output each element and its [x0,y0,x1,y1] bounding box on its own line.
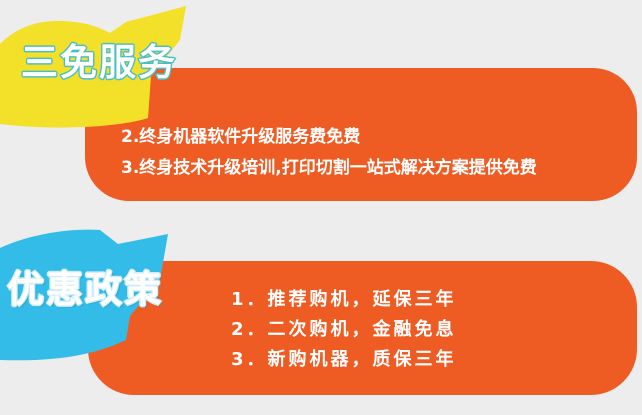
preferential-policy-title: 优惠政策 [7,268,163,312]
policy-line-3: 3．新购机器，质保三年 [231,345,457,375]
three-free-service-title: 三免服务 [21,41,177,85]
policy-line-1: 1．推荐购机，延保三年 [231,285,457,315]
service-line-2: 3.终身技术升级培训,打印切割一站式解决方案提供免费 [121,153,537,184]
promo-poster: 三免服务 2.终身机器软件升级服务费免费 3.终身技术升级培训,打印切割一站式解… [0,0,642,415]
preferential-policy-lines: 1．推荐购机，延保三年 2．二次购机，金融免息 3．新购机器，质保三年 [231,285,457,375]
service-line-1: 2.终身机器软件升级服务费免费 [121,122,537,153]
policy-line-2: 2．二次购机，金融免息 [231,315,457,345]
three-free-service-lines: 2.终身机器软件升级服务费免费 3.终身技术升级培训,打印切割一站式解决方案提供… [121,122,537,184]
